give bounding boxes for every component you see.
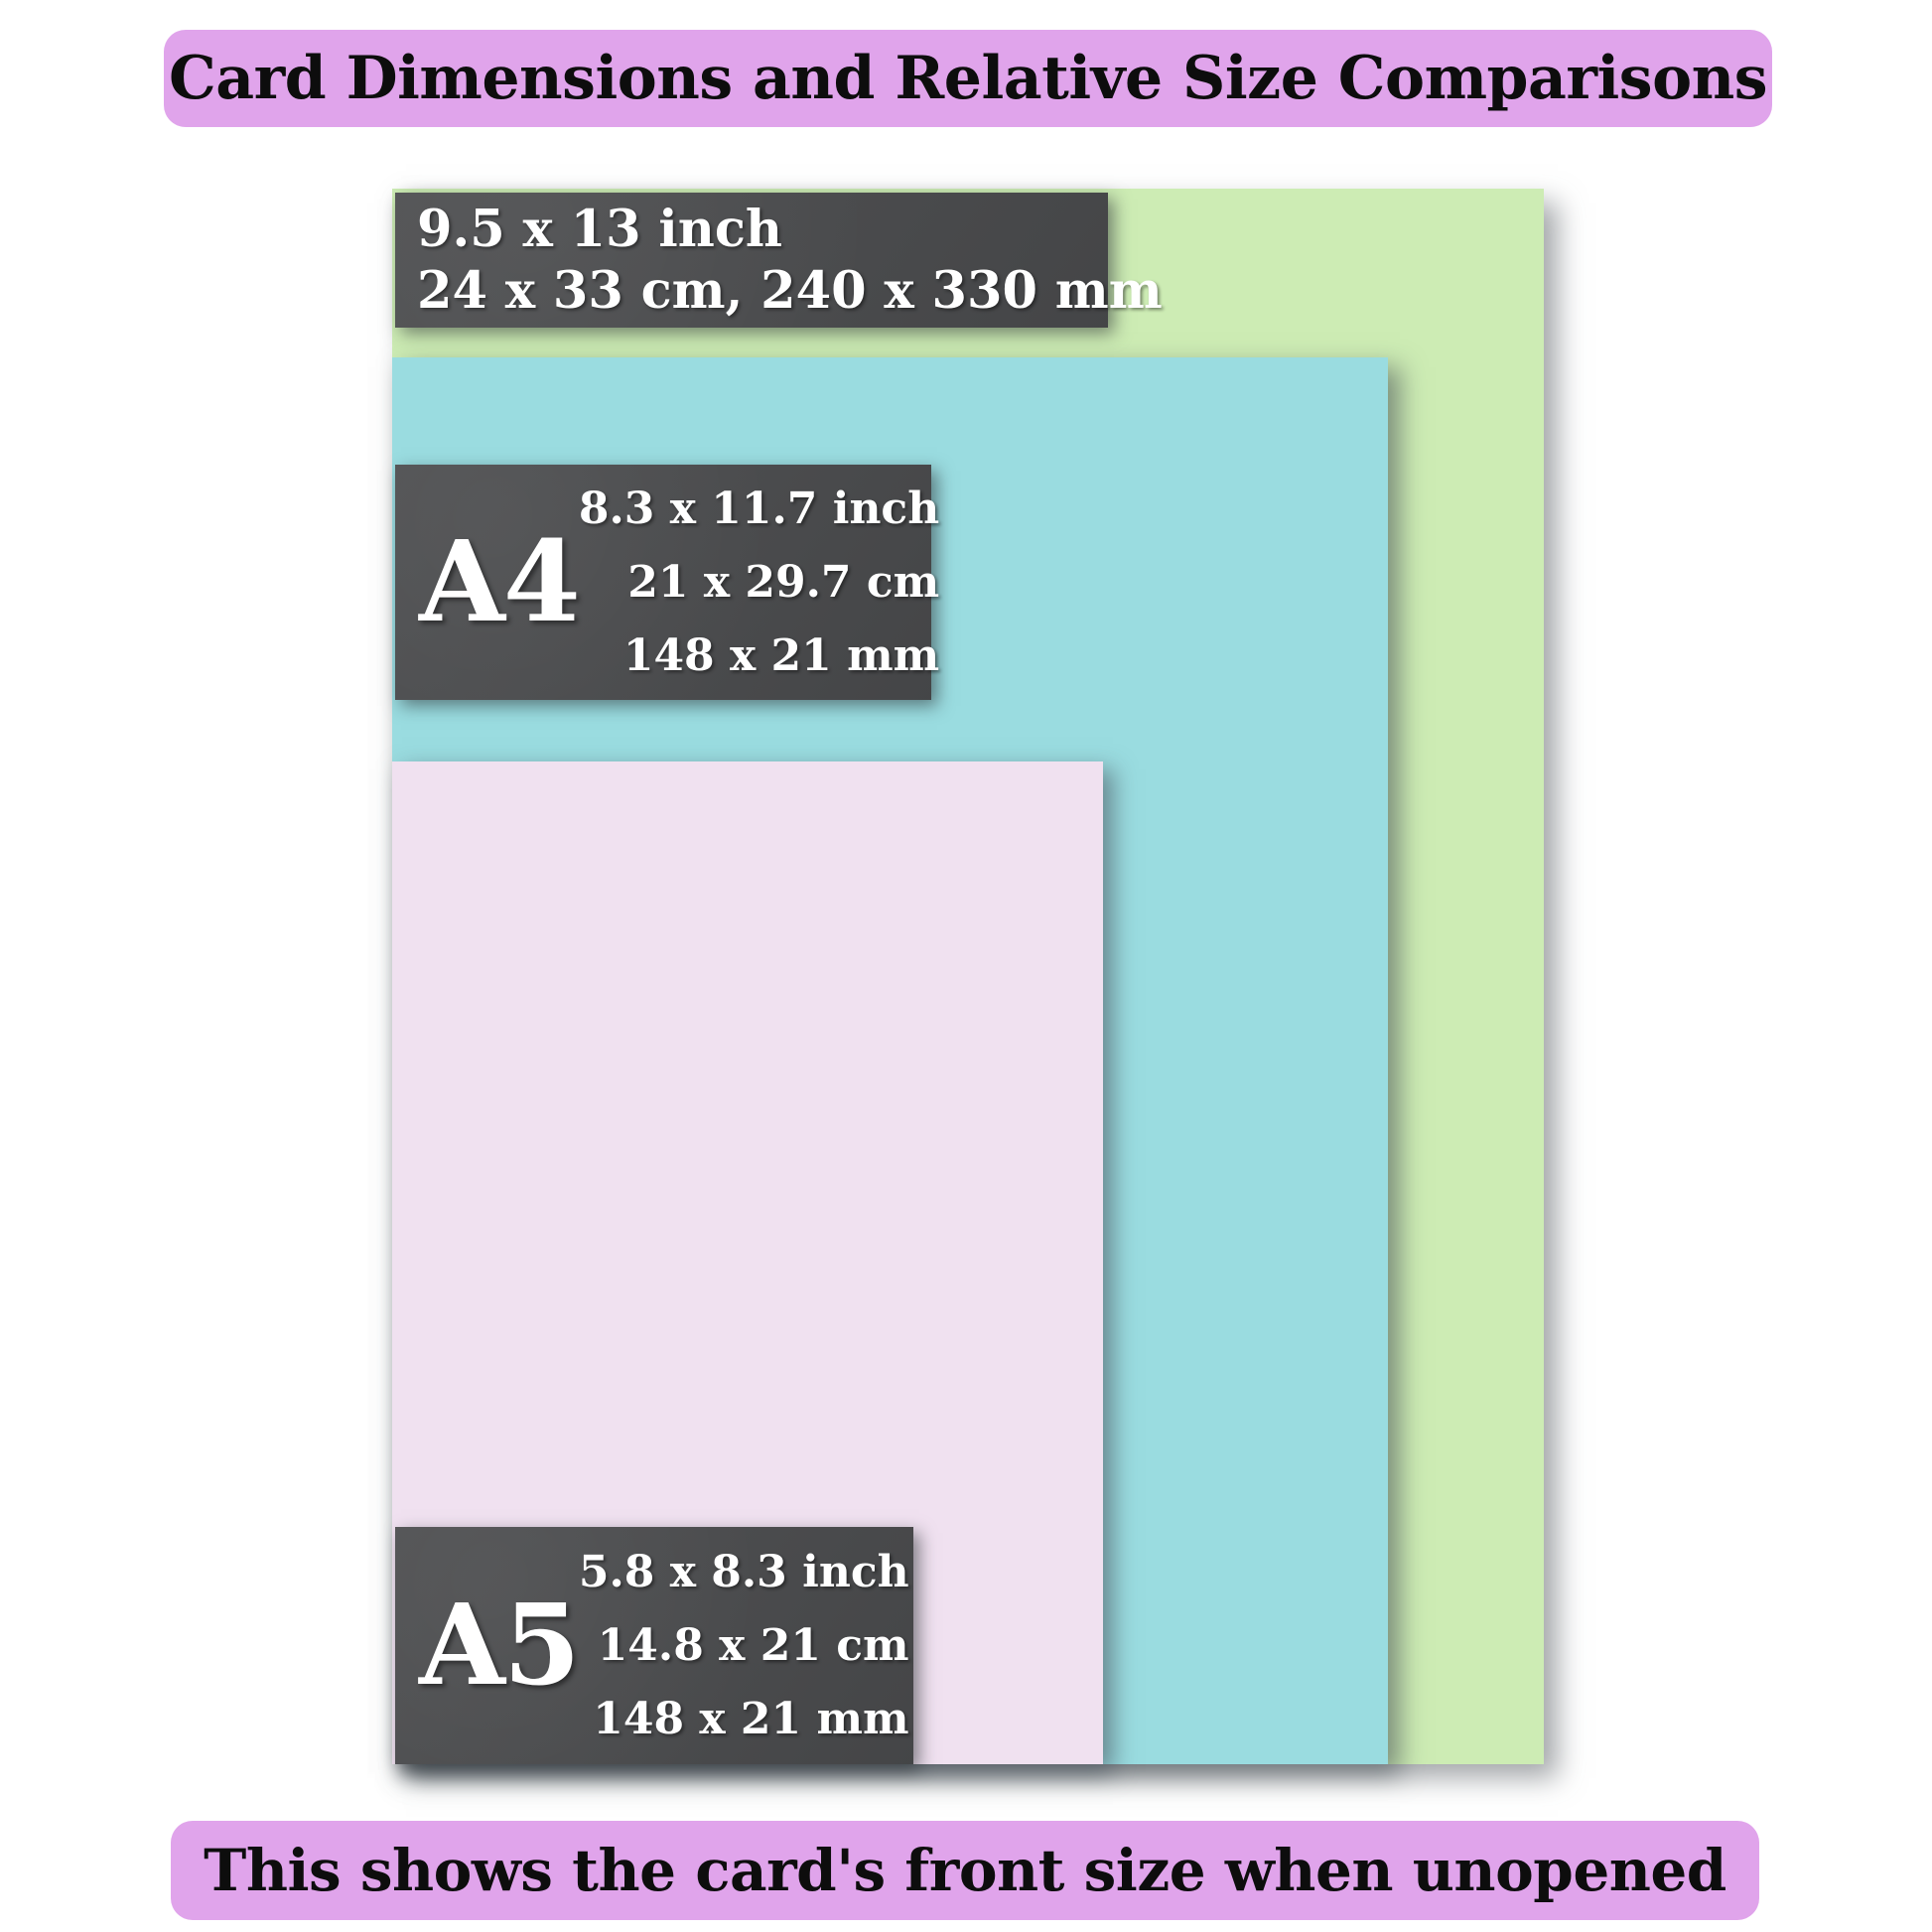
a5-dimension-line-mm: 148 x 21 mm (593, 1683, 908, 1756)
largest-sheet-dimension-label: 9.5 x 13 inch 24 x 33 cm, 240 x 330 mm (395, 193, 1108, 328)
a5-size-code: A5 (407, 1590, 579, 1702)
a4-dimension-line-cm: 21 x 29.7 cm (627, 546, 939, 620)
title-banner: Card Dimensions and Relative Size Compar… (164, 30, 1772, 127)
a4-dimension-label: A4 8.3 x 11.7 inch 21 x 29.7 cm 148 x 21… (395, 465, 931, 700)
a4-dimension-line-mm: 148 x 21 mm (623, 620, 939, 693)
a5-dimension-lines: 5.8 x 8.3 inch 14.8 x 21 cm 148 x 21 mm (579, 1536, 915, 1756)
a4-size-code: A4 (407, 527, 579, 638)
footer-banner-text: This shows the card's front size when un… (204, 1837, 1726, 1904)
largest-sheet-dimension-lines: 9.5 x 13 inch 24 x 33 cm, 240 x 330 mm (417, 203, 1108, 318)
footer-banner: This shows the card's front size when un… (171, 1821, 1759, 1920)
a4-dimension-lines: 8.3 x 11.7 inch 21 x 29.7 cm 148 x 21 mm (579, 473, 945, 693)
a4-dimension-line-inch: 8.3 x 11.7 inch (579, 473, 939, 546)
largest-sheet-dimension-line-inch: 9.5 x 13 inch (417, 199, 1108, 260)
a5-dimension-label: A5 5.8 x 8.3 inch 14.8 x 21 cm 148 x 21 … (395, 1527, 913, 1764)
largest-sheet-dimension-line-metric: 24 x 33 cm, 240 x 330 mm (417, 260, 1108, 322)
a5-dimension-line-inch: 5.8 x 8.3 inch (579, 1536, 909, 1609)
title-banner-text: Card Dimensions and Relative Size Compar… (169, 44, 1767, 113)
a5-dimension-line-cm: 14.8 x 21 cm (598, 1609, 909, 1683)
